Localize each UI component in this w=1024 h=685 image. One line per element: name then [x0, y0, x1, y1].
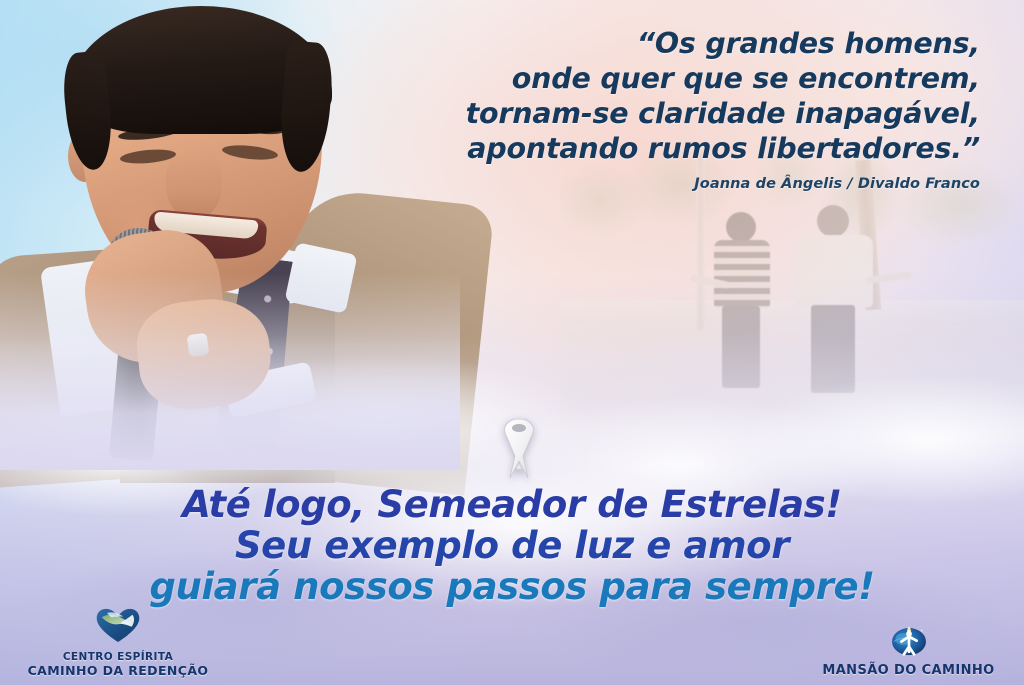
footer-logo-centro-espirita: CENTRO ESPÍRITA CAMINHO DA REDENÇÃO: [18, 606, 218, 677]
quote-block: “Os grandes homens, onde quer que se enc…: [360, 26, 980, 192]
quote-line-2: onde quer que se encontrem,: [360, 61, 980, 96]
heart-hands-icon: [95, 606, 141, 648]
memorial-poster: “Os grandes homens, onde quer que se enc…: [0, 0, 1024, 685]
quote-line-4: apontando rumos libertadores.”: [360, 131, 980, 166]
tribute-message: Até logo, Semeador de Estrelas! Seu exem…: [0, 484, 1024, 607]
quote-line-3: tornam-se claridade inapagável,: [360, 96, 980, 131]
message-line-2: Seu exemplo de luz e amor: [0, 525, 1024, 566]
footer-logo-right-text: MANSÃO DO CAMINHO: [822, 664, 994, 677]
white-mourning-ribbon-icon: [486, 412, 552, 484]
footer-logo-mansao-do-caminho: MANSÃO DO CAMINHO: [801, 616, 1016, 677]
centro-espirita-line2: CAMINHO DA REDENÇÃO: [28, 664, 209, 677]
quote-line-1: “Os grandes homens,: [360, 26, 980, 61]
globe-figure-flame-icon: [887, 616, 931, 661]
quote-attribution: Joanna de Ângelis / Divaldo Franco: [360, 176, 980, 192]
message-line-1: Até logo, Semeador de Estrelas!: [0, 484, 1024, 525]
footer-logo-left-text: CENTRO ESPÍRITA CAMINHO DA REDENÇÃO: [28, 651, 209, 677]
message-line-3: guiará nossos passos para sempre!: [0, 566, 1024, 607]
mansao-do-caminho-label: MANSÃO DO CAMINHO: [822, 664, 994, 677]
